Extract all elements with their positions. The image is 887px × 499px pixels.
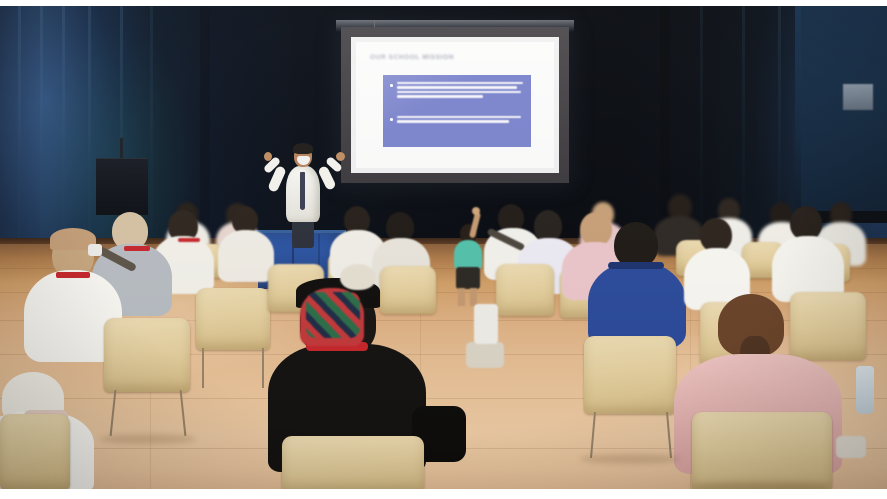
patterned-shirt xyxy=(306,292,360,338)
person-torso xyxy=(218,230,274,282)
person-collar xyxy=(608,262,664,269)
chair-leg xyxy=(262,348,264,388)
letterbox-bottom xyxy=(0,489,887,499)
chair-leg xyxy=(180,390,187,436)
face-mask xyxy=(88,244,102,256)
lanyard xyxy=(56,272,90,278)
child-shorts xyxy=(456,267,480,289)
letterbox-top xyxy=(0,0,887,6)
person-head xyxy=(700,218,732,252)
tote-bag xyxy=(474,304,498,344)
chair-shadow xyxy=(690,482,830,489)
child-leg xyxy=(458,288,465,306)
tote-bag xyxy=(836,436,866,458)
chair-shadow xyxy=(580,454,680,464)
chair xyxy=(584,336,676,414)
tote-bag xyxy=(466,342,504,368)
chair-leg xyxy=(202,348,204,388)
chair xyxy=(0,414,70,489)
chair-shadow xyxy=(100,434,196,444)
chair xyxy=(196,288,270,350)
person-head xyxy=(340,264,376,290)
child-raised-arm xyxy=(469,212,481,239)
chair-leg xyxy=(666,412,672,458)
scene: OUR SCHOOL MISSION xyxy=(0,6,887,489)
lanyard xyxy=(178,238,200,242)
lanyard xyxy=(124,246,150,251)
child-hand xyxy=(472,207,480,215)
chair-leg xyxy=(110,390,117,436)
chair xyxy=(380,266,436,314)
person-head xyxy=(790,206,822,240)
photo-canvas: OUR SCHOOL MISSION xyxy=(0,0,887,499)
audience xyxy=(0,6,887,489)
chair xyxy=(692,412,832,489)
chair xyxy=(790,292,866,360)
child-shirt xyxy=(454,240,482,270)
water-bottle xyxy=(856,366,874,414)
chair xyxy=(496,264,554,316)
person-head xyxy=(580,212,612,246)
chair-leg xyxy=(590,412,596,458)
chair xyxy=(104,318,190,392)
chair xyxy=(282,436,424,489)
